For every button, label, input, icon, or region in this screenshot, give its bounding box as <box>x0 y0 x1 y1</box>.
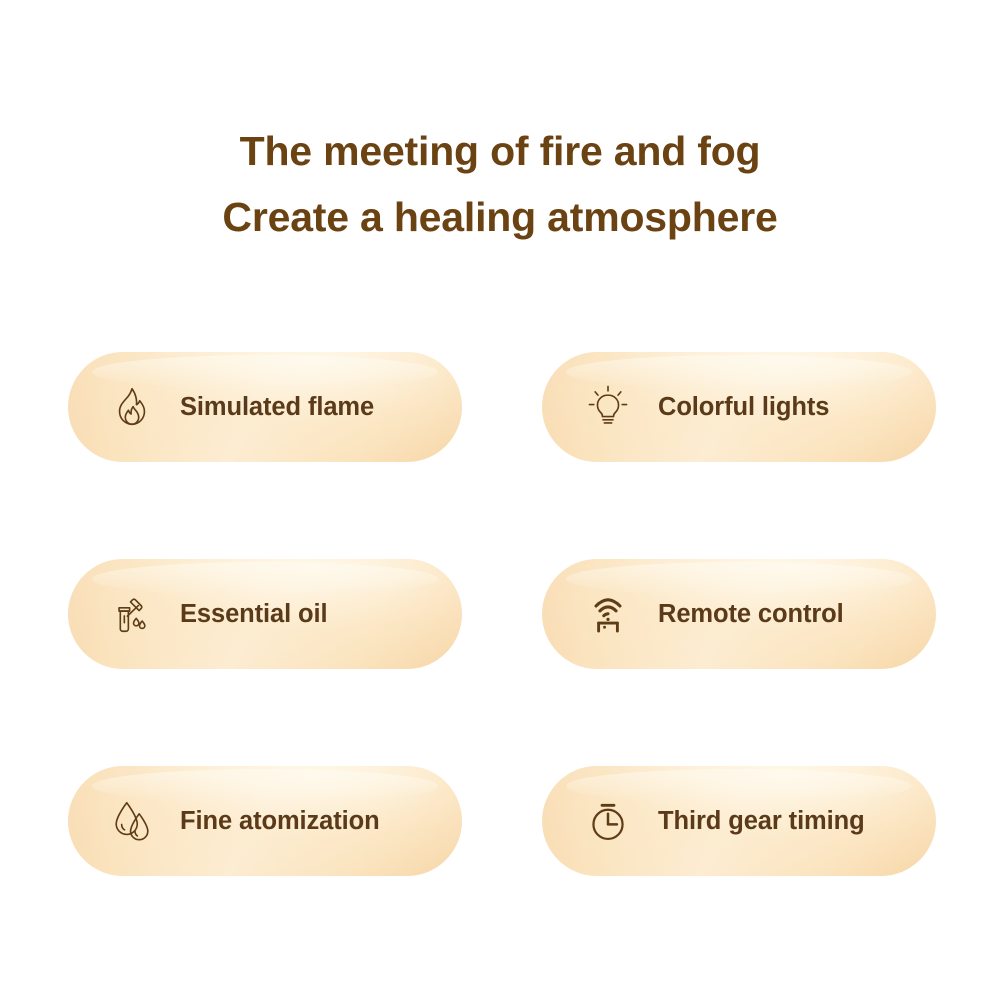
feature-label: Colorful lights <box>658 393 829 422</box>
feature-label: Remote control <box>658 600 844 629</box>
feature-label: Simulated flame <box>180 393 374 422</box>
feature-grid: Simulated flame Colorful lights <box>68 352 936 876</box>
flame-icon <box>106 381 158 433</box>
feature-highlight-page: The meeting of fire and fog Create a hea… <box>0 0 1000 1000</box>
feature-label: Essential oil <box>180 600 328 629</box>
page-title-line-2: Create a healing atmosphere <box>0 184 1000 250</box>
oil-dropper-icon <box>106 588 158 640</box>
feature-card-third-gear-timing[interactable]: Third gear timing <box>542 766 936 876</box>
feature-card-essential-oil[interactable]: Essential oil <box>68 559 462 669</box>
lightbulb-icon <box>582 381 634 433</box>
feature-card-remote-control[interactable]: Remote control <box>542 559 936 669</box>
feature-card-simulated-flame[interactable]: Simulated flame <box>68 352 462 462</box>
feature-label: Fine atomization <box>180 807 380 836</box>
stopwatch-icon <box>582 795 634 847</box>
page-title-line-1: The meeting of fire and fog <box>0 118 1000 184</box>
feature-card-colorful-lights[interactable]: Colorful lights <box>542 352 936 462</box>
page-title: The meeting of fire and fog Create a hea… <box>0 118 1000 250</box>
remote-signal-icon <box>582 588 634 640</box>
feature-label: Third gear timing <box>658 807 865 836</box>
water-droplets-icon <box>106 795 158 847</box>
feature-card-fine-atomization[interactable]: Fine atomization <box>68 766 462 876</box>
